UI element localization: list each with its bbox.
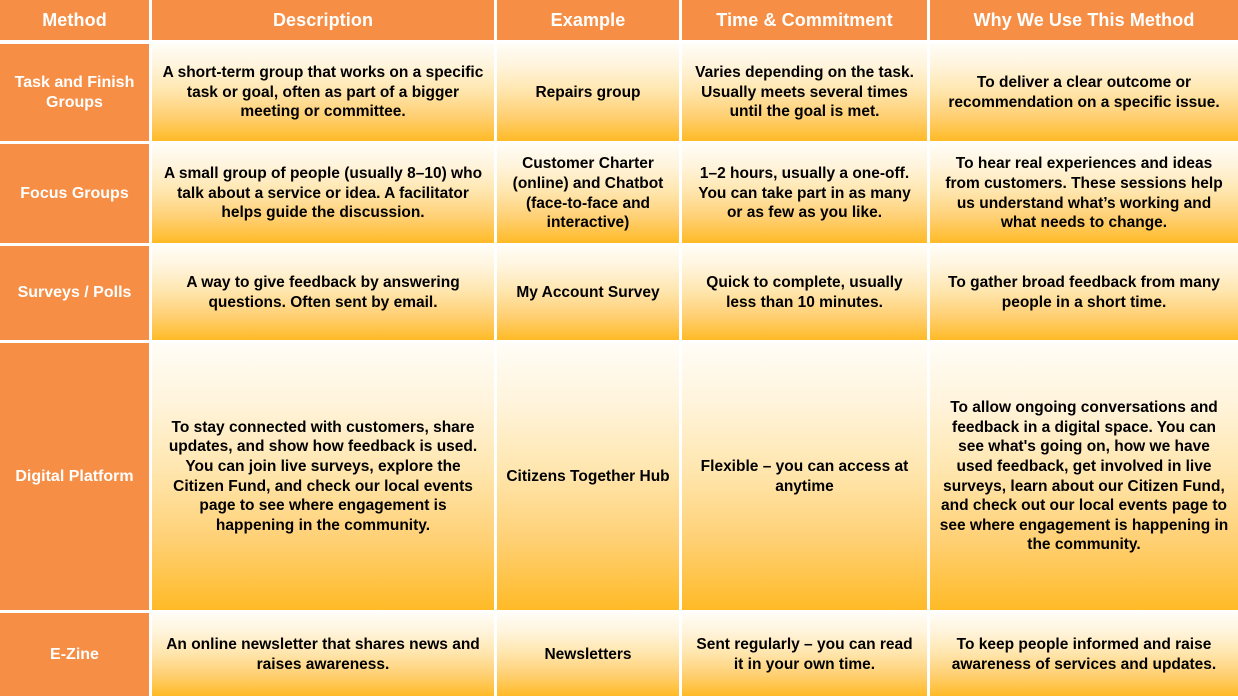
cell-description: An online newsletter that shares news an…	[152, 613, 497, 696]
column-header-example: Example	[497, 0, 682, 44]
cell-why-we-use-this-method: To hear real experiences and ideas from …	[930, 144, 1238, 246]
method-label: Task and Finish Groups	[6, 73, 143, 112]
table-row: Task and Finish Groups A short-term grou…	[0, 44, 1238, 144]
cell-time-and-commitment: Flexible – you can access at anytime	[682, 343, 930, 613]
time-text: 1–2 hours, usually a one-off. You can ta…	[691, 164, 918, 223]
cell-why-we-use-this-method: To gather broad feedback from many peopl…	[930, 246, 1238, 343]
cell-description: A small group of people (usually 8–10) w…	[152, 144, 497, 246]
time-text: Sent regularly – you can read it in your…	[691, 635, 918, 674]
cell-method: Focus Groups	[0, 144, 152, 246]
cell-method: Task and Finish Groups	[0, 44, 152, 144]
cell-description: To stay connected with customers, share …	[152, 343, 497, 613]
description-text: A small group of people (usually 8–10) w…	[161, 164, 485, 223]
cell-method: Surveys / Polls	[0, 246, 152, 343]
cell-description: A short-term group that works on a speci…	[152, 44, 497, 144]
cell-method: E-Zine	[0, 613, 152, 696]
method-label: Surveys / Polls	[6, 283, 143, 303]
cell-example: Citizens Together Hub	[497, 343, 682, 613]
example-text: Customer Charter (online) and Chatbot (f…	[506, 154, 670, 232]
example-text: My Account Survey	[506, 283, 670, 303]
cell-example: Customer Charter (online) and Chatbot (f…	[497, 144, 682, 246]
cell-time-and-commitment: Sent regularly – you can read it in your…	[682, 613, 930, 696]
method-label: E-Zine	[6, 645, 143, 665]
engagement-methods-table-container: Method Description Example Time & Commit…	[0, 0, 1238, 700]
table-body: Task and Finish Groups A short-term grou…	[0, 44, 1238, 696]
cell-time-and-commitment: 1–2 hours, usually a one-off. You can ta…	[682, 144, 930, 246]
column-header-why-we-use-this-method: Why We Use This Method	[930, 0, 1238, 44]
description-text: To stay connected with customers, share …	[161, 418, 485, 535]
description-text: An online newsletter that shares news an…	[161, 635, 485, 674]
cell-example: Repairs group	[497, 44, 682, 144]
why-text: To allow ongoing conversations and feedb…	[939, 398, 1229, 554]
example-text: Newsletters	[506, 645, 670, 665]
why-text: To keep people informed and raise awaren…	[939, 635, 1229, 674]
time-text: Varies depending on the task. Usually me…	[691, 63, 918, 122]
cell-why-we-use-this-method: To deliver a clear outcome or recommenda…	[930, 44, 1238, 144]
description-text: A short-term group that works on a speci…	[161, 63, 485, 122]
table-header: Method Description Example Time & Commit…	[0, 0, 1238, 44]
table-row: E-Zine An online newsletter that shares …	[0, 613, 1238, 696]
time-text: Quick to complete, usually less than 10 …	[691, 273, 918, 312]
column-header-description: Description	[152, 0, 497, 44]
cell-why-we-use-this-method: To allow ongoing conversations and feedb…	[930, 343, 1238, 613]
time-text: Flexible – you can access at anytime	[691, 457, 918, 496]
method-label: Digital Platform	[6, 467, 143, 487]
table-row: Focus Groups A small group of people (us…	[0, 144, 1238, 246]
column-header-method: Method	[0, 0, 152, 44]
cell-example: Newsletters	[497, 613, 682, 696]
example-text: Citizens Together Hub	[506, 467, 670, 487]
why-text: To deliver a clear outcome or recommenda…	[939, 73, 1229, 112]
table-header-row: Method Description Example Time & Commit…	[0, 0, 1238, 44]
example-text: Repairs group	[506, 83, 670, 103]
method-label: Focus Groups	[6, 184, 143, 204]
why-text: To hear real experiences and ideas from …	[939, 154, 1229, 232]
cell-description: A way to give feedback by answering ques…	[152, 246, 497, 343]
column-header-time-and-commitment: Time & Commitment	[682, 0, 930, 44]
cell-time-and-commitment: Varies depending on the task. Usually me…	[682, 44, 930, 144]
table-row: Digital Platform To stay connected with …	[0, 343, 1238, 613]
cell-why-we-use-this-method: To keep people informed and raise awaren…	[930, 613, 1238, 696]
cell-method: Digital Platform	[0, 343, 152, 613]
description-text: A way to give feedback by answering ques…	[161, 273, 485, 312]
table-row: Surveys / Polls A way to give feedback b…	[0, 246, 1238, 343]
cell-example: My Account Survey	[497, 246, 682, 343]
cell-time-and-commitment: Quick to complete, usually less than 10 …	[682, 246, 930, 343]
why-text: To gather broad feedback from many peopl…	[939, 273, 1229, 312]
engagement-methods-table: Method Description Example Time & Commit…	[0, 0, 1238, 696]
